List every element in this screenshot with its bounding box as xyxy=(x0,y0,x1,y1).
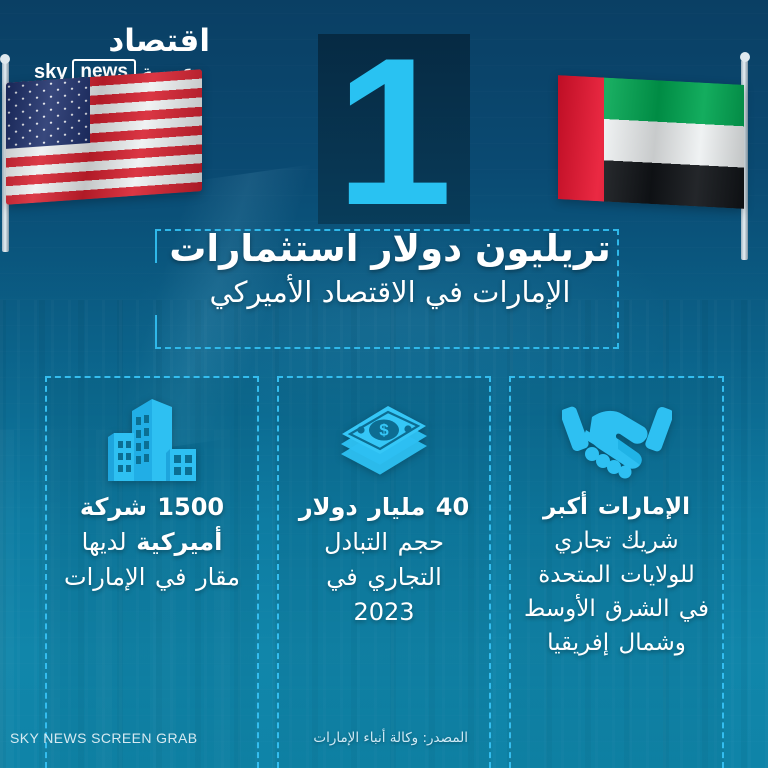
source-credit: المصدر: وكالة أنباء الإمارات xyxy=(313,730,468,746)
stat-card-trade-partner[interactable]: الإمارات أكبر شريك تجاري للولايات المتحد… xyxy=(509,376,724,768)
united-states-flag xyxy=(0,70,207,210)
screen-grab-watermark: SKY NEWS SCREEN GRAB xyxy=(10,730,197,746)
stat-card-detail: شريك تجاري للولايات المتحدة في الشرق الأ… xyxy=(524,528,709,656)
uae-flag-cloth xyxy=(558,75,744,209)
uae-flag-shading xyxy=(558,75,744,209)
stat-card-trade-volume[interactable]: $ 40 مليار دولار حجم التبادل التجاري في … xyxy=(277,376,491,768)
stat-card-highlight: الإمارات أكبر xyxy=(543,494,690,520)
stat-card-companies[interactable]: 1500 شركة أميركية لديها مقار في الإمارات xyxy=(45,376,259,768)
flag-pole-cap xyxy=(740,52,750,62)
logo-economy-word: اقتصاد xyxy=(34,24,214,58)
hero-numeral: 1 xyxy=(318,40,470,224)
headline-line-2: الإمارات في الاقتصاد الأميركي xyxy=(120,272,660,312)
stat-card-detail: حجم التبادل التجاري في 2023 xyxy=(324,528,444,626)
stat-card-text: 40 مليار دولار حجم التبادل التجاري في 20… xyxy=(279,488,489,630)
stat-card-text: الإمارات أكبر شريك تجاري للولايات المتحد… xyxy=(511,488,722,660)
headline-block: تريليون دولار استثمارات الإمارات في الاق… xyxy=(120,226,660,312)
stat-cards-row: 1500 شركة أميركية لديها مقار في الإمارات… xyxy=(0,376,768,768)
us-flag-cloth xyxy=(6,69,202,205)
infographic-canvas: اقتصاد عربية news sky 1 تر xyxy=(0,0,768,768)
stat-card-text: 1500 شركة أميركية لديها مقار في الإمارات xyxy=(47,488,257,595)
handshake-icon xyxy=(511,392,722,488)
svg-text:$: $ xyxy=(379,421,389,440)
flag-pole-cap xyxy=(0,54,10,64)
stat-card-highlight: 40 مليار دولار xyxy=(299,493,469,521)
hero-numeral-panel: 1 xyxy=(318,34,470,224)
banknotes-dollar-icon: $ xyxy=(279,392,489,488)
office-buildings-icon xyxy=(47,392,257,488)
headline-line-1: تريليون دولار استثمارات xyxy=(120,226,660,272)
us-flag-shading xyxy=(6,69,202,205)
uae-flag xyxy=(550,72,760,222)
